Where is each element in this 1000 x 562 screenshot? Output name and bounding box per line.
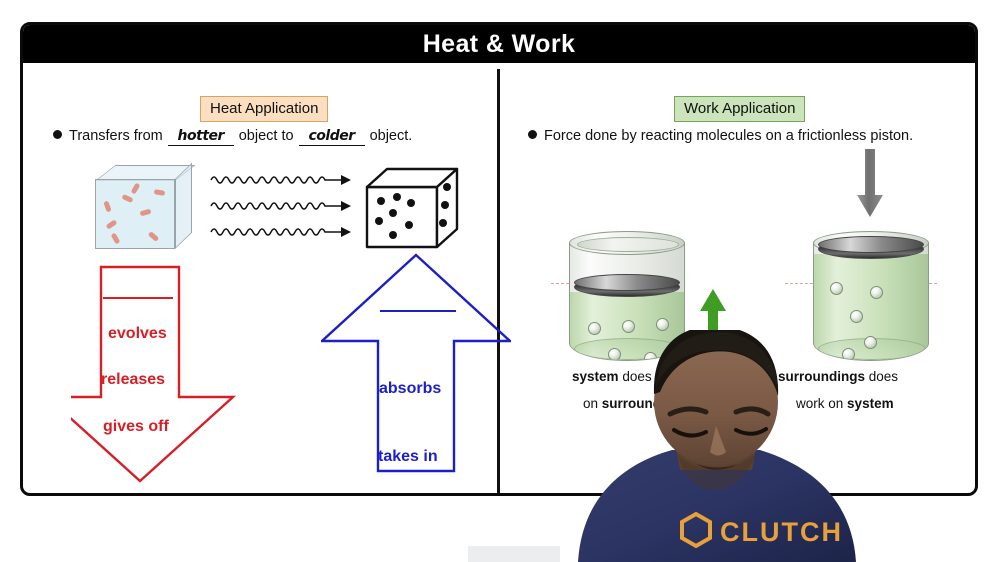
piston-disc-top <box>574 274 680 291</box>
gas-particle <box>830 282 843 295</box>
work-bullet-text: Force done by reacting molecules on a fr… <box>544 128 913 144</box>
caption-rest: does <box>869 369 898 384</box>
gas-particle <box>870 286 883 299</box>
cylinder-rim <box>569 231 685 255</box>
bullet-dot-icon <box>53 130 62 139</box>
work-application-label: Work Application <box>674 96 805 122</box>
endothermic-word-takes-in: takes in <box>378 448 438 466</box>
exothermic-word-evolves: evolves <box>108 325 167 343</box>
exothermic-word-gives-off: gives off <box>103 418 169 436</box>
blank-hotter[interactable]: hotter <box>168 128 234 146</box>
video-control-bar[interactable] <box>468 546 560 562</box>
piston-disc-top <box>818 236 924 253</box>
heat-bullet-suffix: object. <box>370 128 413 144</box>
page-title: Heat & Work <box>423 30 576 59</box>
heat-bullet-line: Transfers from hotter object to colder o… <box>53 128 412 146</box>
presenter-webcam-overlay: CLUTCH <box>560 330 870 562</box>
heat-bullet-middle: object to <box>239 128 294 144</box>
heat-transfer-waves-icon <box>209 171 354 243</box>
heat-application-label: Heat Application <box>200 96 328 122</box>
slide-title-bar: Heat & Work <box>23 25 975 63</box>
cold-object-box-icon <box>363 165 463 251</box>
hot-object-box-icon <box>95 165 195 249</box>
bullet-dot-icon <box>528 130 537 139</box>
heat-bullet-prefix: Transfers from <box>69 128 163 144</box>
exothermic-top-blank[interactable] <box>103 297 173 299</box>
work-bullet-line: Force done by reacting molecules on a fr… <box>528 128 913 144</box>
endothermic-word-absorbs: absorbs <box>379 380 441 398</box>
endothermic-top-blank[interactable] <box>380 310 456 312</box>
endothermic-up-arrow-icon <box>321 253 511 481</box>
exothermic-word-releases: releases <box>101 371 165 389</box>
gas-particle <box>850 310 863 323</box>
compression-down-arrow-icon <box>856 149 884 219</box>
clutch-shirt-text: CLUTCH <box>720 517 843 547</box>
blank-colder[interactable]: colder <box>299 128 365 146</box>
